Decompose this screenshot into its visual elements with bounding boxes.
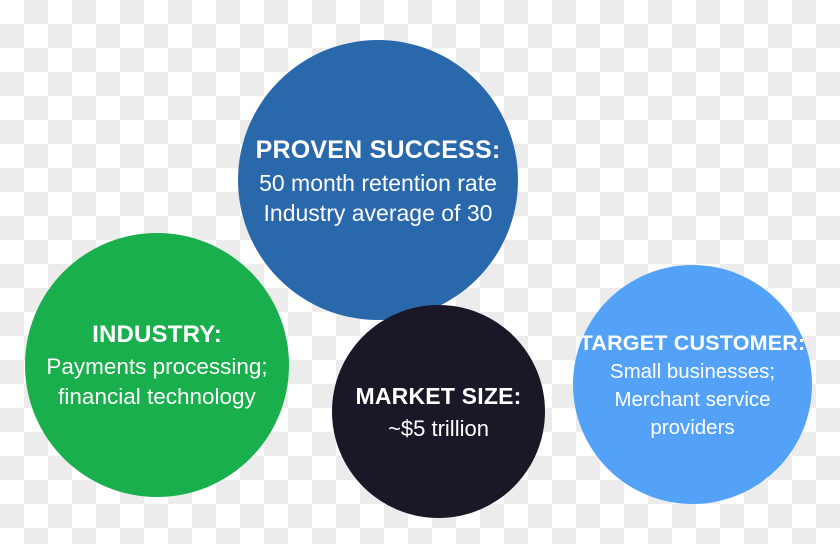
bubble-market-size-line-1: ~$5 trillion [388,414,489,444]
bubble-proven-success-body: 50 month retention rate Industry average… [259,168,497,228]
bubble-target-customer-line-3: providers [650,414,734,442]
bubble-proven-success-title: PROVEN SUCCESS: [256,133,501,167]
infographic-canvas: PROVEN SUCCESS: 50 month retention rate … [0,0,840,544]
bubble-target-customer-title: TARGET CUSTOMER: [580,328,806,358]
bubble-industry-body: Payments processing; financial technolog… [46,352,267,412]
bubble-market-size[interactable]: MARKET SIZE: ~$5 trillion [332,305,545,518]
bubble-industry[interactable]: INDUSTRY: Payments processing; financial… [25,233,289,497]
bubble-proven-success-line-2: Industry average of 30 [264,198,493,228]
bubble-proven-success[interactable]: PROVEN SUCCESS: 50 month retention rate … [238,40,518,320]
bubble-market-size-body: ~$5 trillion [388,414,489,444]
bubble-proven-success-line-1: 50 month retention rate [259,168,497,198]
bubble-industry-title: INDUSTRY: [92,318,222,351]
bubble-target-customer-line-1: Small businesses; [610,358,775,386]
bubble-target-customer[interactable]: TARGET CUSTOMER: Small businesses; Merch… [573,265,812,504]
bubble-industry-line-1: Payments processing; [46,352,267,382]
bubble-market-size-title: MARKET SIZE: [356,380,522,412]
bubble-target-customer-body: Small businesses; Merchant service provi… [610,358,775,442]
bubble-industry-line-2: financial technology [58,382,256,412]
bubble-target-customer-line-2: Merchant service [614,386,770,414]
